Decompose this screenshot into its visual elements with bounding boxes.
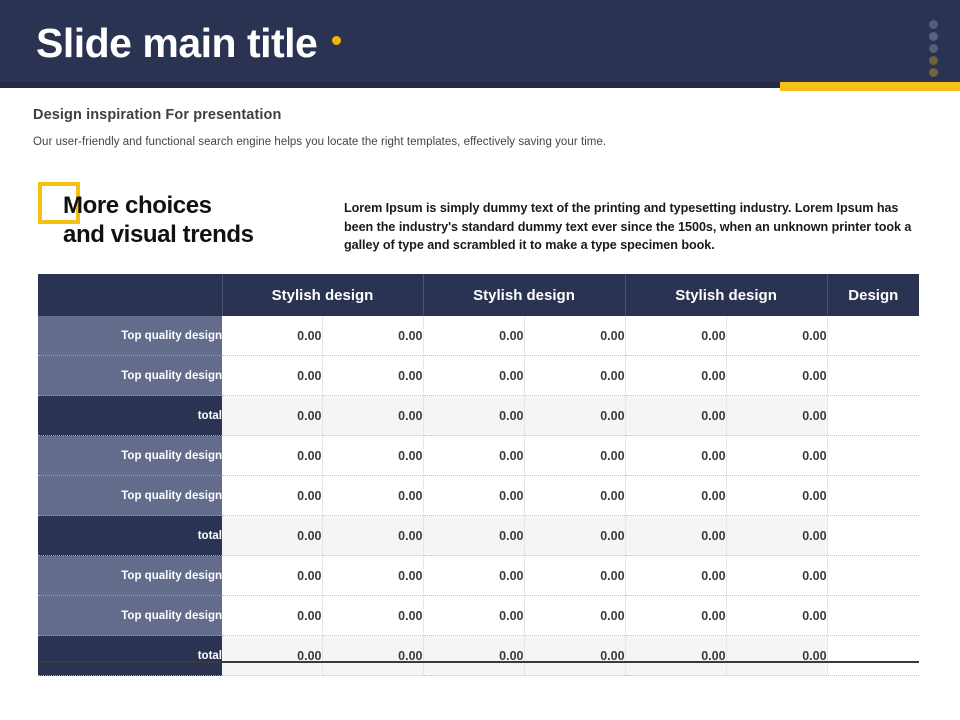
table-cell-value: 0.00 [726,516,827,556]
table-cell-value: 0.00 [222,636,322,676]
table-cell-empty [827,556,919,596]
table-row: Top quality design0.000.000.000.000.000.… [38,556,919,596]
table-row-label: Top quality design [38,436,222,476]
data-table: Stylish design Stylish design Stylish de… [38,274,919,676]
table-cell-value: 0.00 [423,596,524,636]
header-dot-5-icon [929,68,938,77]
table-cell-value: 0.00 [322,436,423,476]
table-cell-value: 0.00 [524,476,625,516]
table-row-label: Top quality design [38,356,222,396]
table-header-row: Stylish design Stylish design Stylish de… [38,274,919,316]
table-header-group-1: Stylish design [222,274,423,316]
table-cell-value: 0.00 [222,396,322,436]
table-cell-value: 0.00 [625,636,726,676]
table-cell-value: 0.00 [423,476,524,516]
table-cell-value: 0.00 [222,316,322,356]
table-cell-value: 0.00 [625,316,726,356]
header-dot-column [929,20,941,80]
table-cell-value: 0.00 [423,356,524,396]
table-cell-value: 0.00 [625,596,726,636]
table-header-group-2: Stylish design [423,274,625,316]
header-dot-3-icon [929,44,938,53]
headline-line-2: and visual trends [63,220,254,249]
table-row: total0.000.000.000.000.000.00 [38,636,919,676]
table-cell-value: 0.00 [726,396,827,436]
table-cell-value: 0.00 [625,556,726,596]
header-dot-4-icon [929,56,938,65]
table-row-label: Top quality design [38,316,222,356]
table-cell-value: 0.00 [222,476,322,516]
table-row: total0.000.000.000.000.000.00 [38,516,919,556]
table-row: Top quality design0.000.000.000.000.000.… [38,356,919,396]
table-cell-value: 0.00 [222,356,322,396]
content-headline: More choices and visual trends [63,191,254,249]
table-header-design: Design [827,274,919,316]
table-row-label: Top quality design [38,476,222,516]
table-header-group-3: Stylish design [625,274,827,316]
table-cell-value: 0.00 [726,476,827,516]
table-cell-value: 0.00 [423,556,524,596]
table-cell-value: 0.00 [423,516,524,556]
table-cell-value: 0.00 [222,556,322,596]
title-accent-dot-icon [332,36,341,45]
table-cell-value: 0.00 [524,316,625,356]
table-cell-value: 0.00 [625,516,726,556]
table-row-label: total [38,636,222,676]
table-row: Top quality design0.000.000.000.000.000.… [38,476,919,516]
table-cell-empty [827,476,919,516]
table-cell-value: 0.00 [726,436,827,476]
table-cell-empty [827,316,919,356]
table-row: Top quality design0.000.000.000.000.000.… [38,316,919,356]
section-description: Our user-friendly and functional search … [33,136,606,148]
table-cell-value: 0.00 [322,356,423,396]
table-cell-value: 0.00 [524,516,625,556]
table-cell-empty [827,516,919,556]
table-cell-empty [827,356,919,396]
data-table-container: Stylish design Stylish design Stylish de… [38,274,919,676]
header-dot-1-icon [929,20,938,29]
table-cell-value: 0.00 [524,396,625,436]
table-cell-value: 0.00 [322,476,423,516]
table-cell-value: 0.00 [423,636,524,676]
table-cell-value: 0.00 [524,596,625,636]
table-cell-value: 0.00 [222,596,322,636]
table-cell-value: 0.00 [322,636,423,676]
table-cell-empty [827,436,919,476]
table-cell-value: 0.00 [524,356,625,396]
table-cell-value: 0.00 [423,436,524,476]
table-cell-value: 0.00 [625,476,726,516]
section-subtitle: Design inspiration For presentation [33,107,281,123]
table-row-label: total [38,396,222,436]
header-dot-2-icon [929,32,938,41]
table-row-label: Top quality design [38,596,222,636]
table-cell-value: 0.00 [625,436,726,476]
table-cell-empty [827,636,919,676]
table-header-blank [38,274,222,316]
slide-header: Slide main title [0,0,960,88]
table-row-label: Top quality design [38,556,222,596]
table-cell-value: 0.00 [222,436,322,476]
table-body: Top quality design0.000.000.000.000.000.… [38,316,919,676]
table-cell-empty [827,596,919,636]
table-cell-empty [827,396,919,436]
table-cell-value: 0.00 [322,316,423,356]
table-row: Top quality design0.000.000.000.000.000.… [38,596,919,636]
table-cell-value: 0.00 [726,596,827,636]
table-cell-value: 0.00 [322,516,423,556]
table-bottom-rule [38,661,919,663]
table-cell-value: 0.00 [625,356,726,396]
table-cell-value: 0.00 [524,636,625,676]
content-body-paragraph: Lorem Ipsum is simply dummy text of the … [344,199,916,255]
table-cell-value: 0.00 [322,556,423,596]
table-cell-value: 0.00 [524,556,625,596]
header-accent-bar [780,82,960,91]
table-cell-value: 0.00 [322,396,423,436]
table-cell-value: 0.00 [322,596,423,636]
table-cell-value: 0.00 [625,396,726,436]
table-cell-value: 0.00 [726,356,827,396]
table-cell-value: 0.00 [222,516,322,556]
table-cell-value: 0.00 [726,636,827,676]
table-cell-value: 0.00 [423,316,524,356]
table-row: total0.000.000.000.000.000.00 [38,396,919,436]
table-cell-value: 0.00 [524,436,625,476]
table-row-label: total [38,516,222,556]
table-cell-value: 0.00 [726,556,827,596]
table-cell-value: 0.00 [726,316,827,356]
page-title: Slide main title [36,18,317,68]
table-row: Top quality design0.000.000.000.000.000.… [38,436,919,476]
headline-line-1: More choices [63,192,212,219]
table-cell-value: 0.00 [423,396,524,436]
